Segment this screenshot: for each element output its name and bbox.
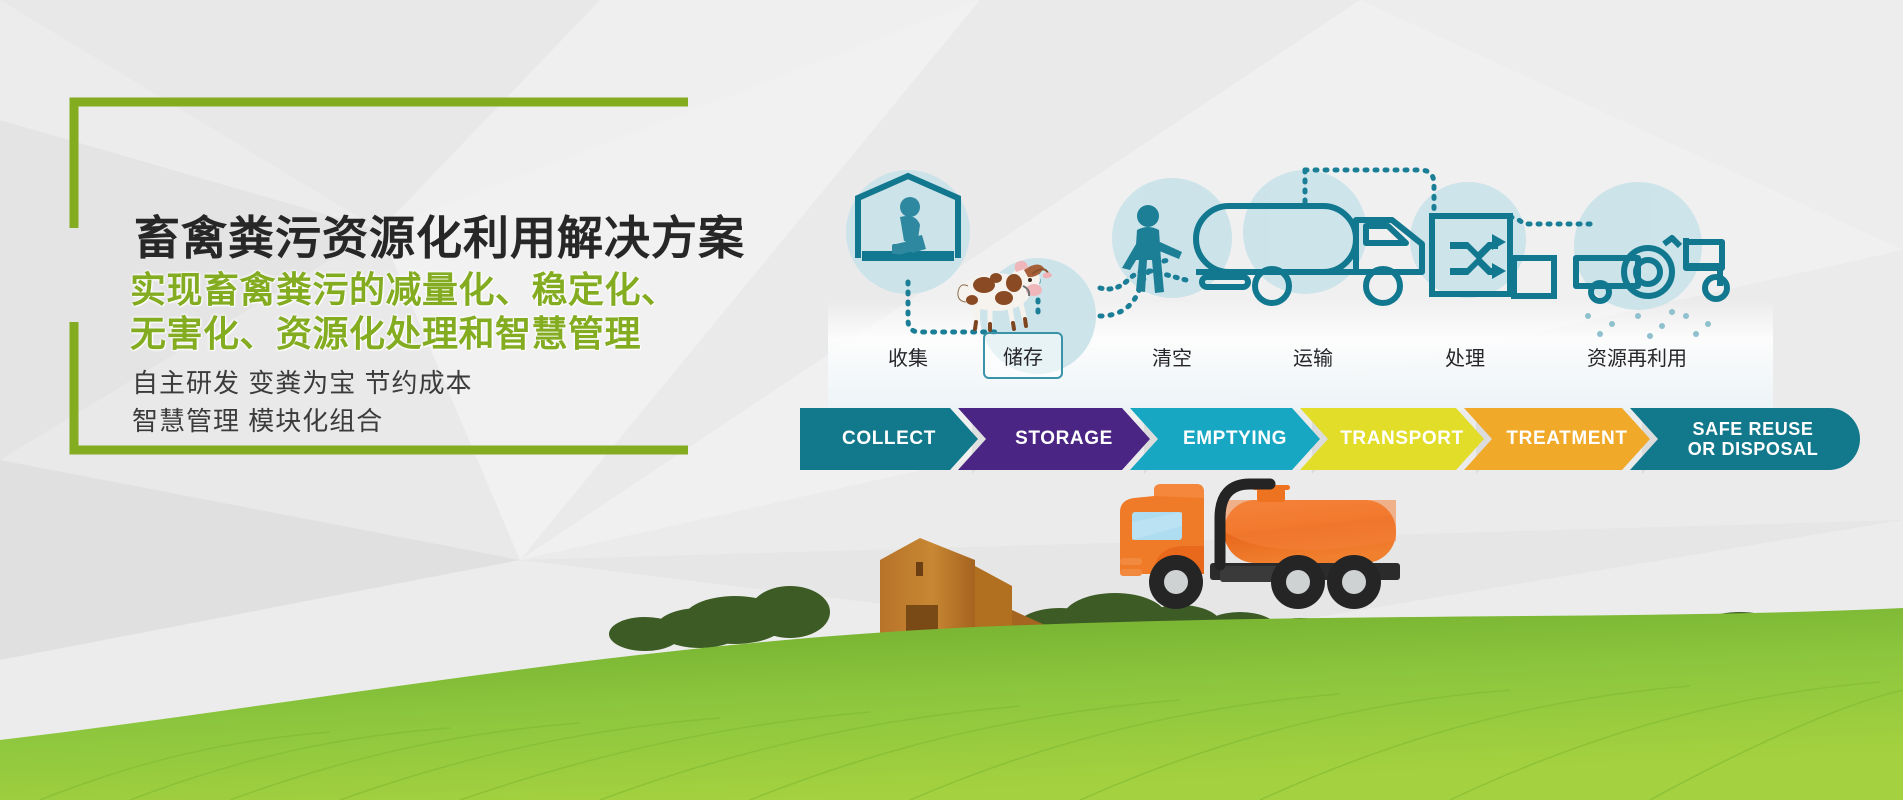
feature-line-2: 智慧管理 模块化组合: [132, 402, 692, 440]
feature-list: 自主研发 变粪为宝 节约成本 智慧管理 模块化组合: [132, 364, 692, 440]
subtitle-line-1: 实现畜禽粪污的减量化、稳定化、: [130, 268, 730, 312]
farm-landscape: [0, 440, 1903, 800]
chevron-label-emptying[interactable]: EMPTYING: [1150, 408, 1320, 470]
flow-label-reuse[interactable]: 资源再利用: [1542, 342, 1732, 371]
promo-banner: 畜禽粪污资源化利用解决方案 实现畜禽粪污的减量化、稳定化、 无害化、资源化处理和…: [0, 0, 1903, 800]
flow-label-transport[interactable]: 运输: [1253, 342, 1373, 371]
subtitle: 实现畜禽粪污的减量化、稳定化、 无害化、资源化处理和智慧管理: [130, 268, 730, 356]
chevron-text-transport: TRANSPORT: [1340, 429, 1464, 449]
process-chevron-ribbon: COLLECT STORAGE EMPTYING TRANSPORT TREAT…: [800, 408, 1860, 470]
flow-label-storage[interactable]: 储存: [983, 332, 1063, 379]
spread-dots: [1585, 309, 1711, 339]
chevron-text-storage: STORAGE: [1015, 429, 1113, 449]
subtitle-line-2: 无害化、资源化处理和智慧管理: [130, 312, 730, 356]
flow-label-collect[interactable]: 收集: [848, 342, 968, 371]
headline-block: 畜禽粪污资源化利用解决方案 实现畜禽粪污的减量化、稳定化、 无害化、资源化处理和…: [68, 96, 688, 456]
flow-label-emptying[interactable]: 清空: [1112, 342, 1232, 371]
chevron-label-storage[interactable]: STORAGE: [978, 408, 1150, 470]
chevron-label-transport[interactable]: TRANSPORT: [1320, 408, 1484, 470]
farm-barn: [880, 538, 1045, 640]
page-title: 畜禽粪污资源化利用解决方案: [134, 202, 745, 268]
process-flow-diagram: 收集 储存 清空 运输 处理 资源再利用: [800, 120, 1860, 450]
flow-stage-labels: 收集 储存 清空 运输 处理 资源再利用: [800, 342, 1860, 392]
chevron-text-emptying: EMPTYING: [1183, 429, 1287, 449]
orange-vacuum-tanker-truck: [1092, 470, 1432, 625]
green-field: [0, 608, 1903, 800]
chevron-text-treatment: TREATMENT: [1506, 429, 1627, 449]
chevron-label-treatment[interactable]: TREATMENT: [1484, 408, 1650, 470]
chevron-label-collect[interactable]: COLLECT: [800, 408, 978, 470]
flow-label-treatment[interactable]: 处理: [1405, 342, 1525, 371]
chevron-text-collect: COLLECT: [842, 429, 936, 449]
feature-line-1: 自主研发 变粪为宝 节约成本: [132, 364, 692, 402]
chevron-text-safe-reuse: SAFE REUSE OR DISPOSAL: [1688, 419, 1819, 459]
chevron-label-safe-reuse[interactable]: SAFE REUSE OR DISPOSAL: [1658, 408, 1848, 470]
